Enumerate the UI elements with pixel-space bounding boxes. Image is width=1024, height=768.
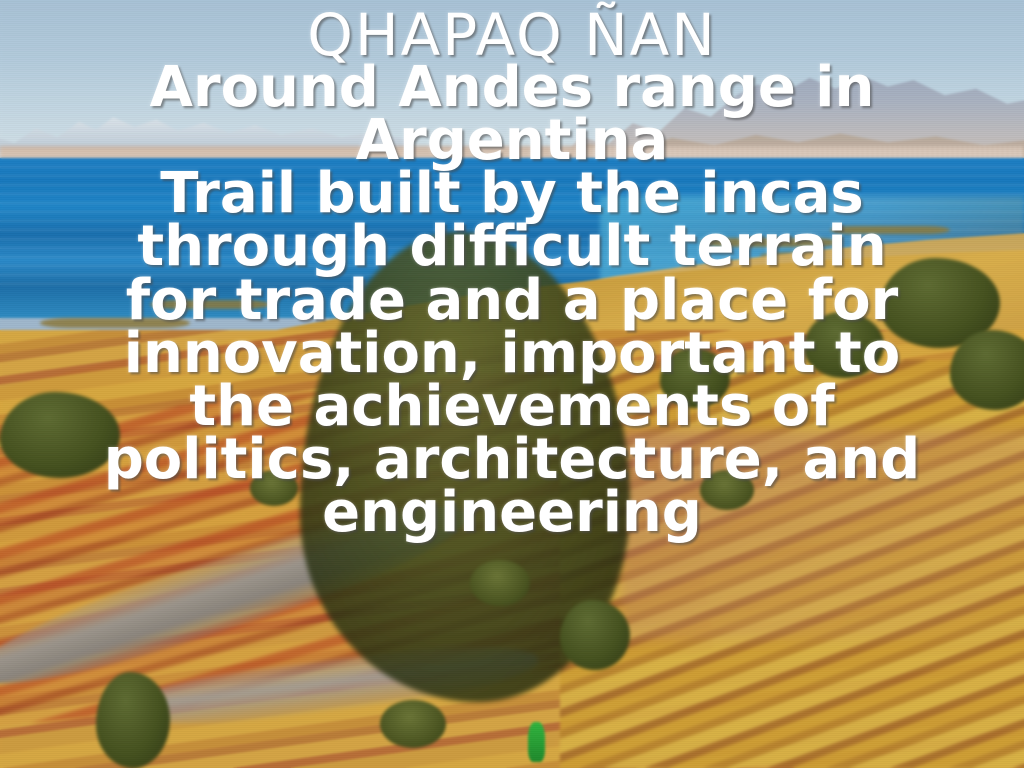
slide-text-overlay: QHAPAQ ÑAN Around Andes range in Argenti… [0,0,1024,768]
presentation-slide: QHAPAQ ÑAN Around Andes range in Argenti… [0,0,1024,768]
slide-body-line-9: engineering [0,484,1024,541]
